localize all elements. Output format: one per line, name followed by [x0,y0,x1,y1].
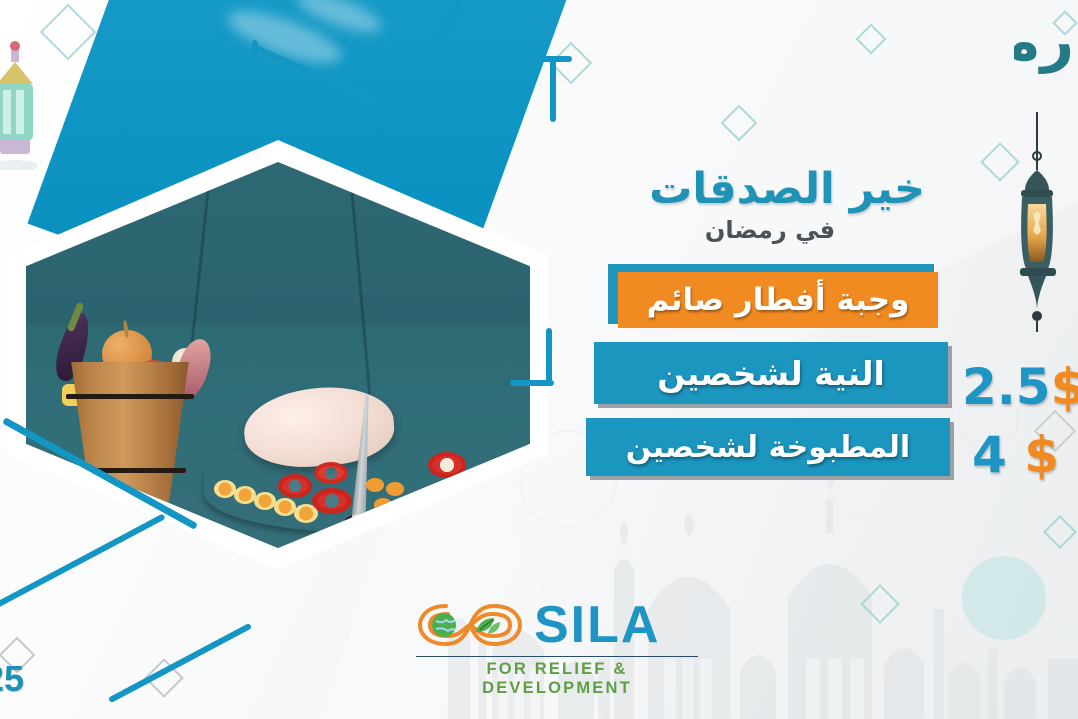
orange-banner-label: وجبة أفطار صائم [647,282,910,318]
price-option-1: 2.5$ [962,358,1078,416]
price-option-2: 4 $ [972,426,1059,484]
infinity-globe-leaf-mark-icon [416,598,524,652]
accent-line [546,328,552,386]
pepper-ring [314,462,348,484]
pepper-ring [312,488,352,514]
blue-banner-1-label: النية لشخصين [657,354,885,393]
year-badge: 25 [0,658,24,700]
bucket-hoop [66,394,194,399]
price-2-currency: $ [1024,426,1059,484]
carrot-slice [254,492,276,510]
blue-banner-2: المطبوخة لشخصين [586,418,950,476]
carrot-slice [386,482,404,496]
accent-line [550,56,556,122]
page-subtitle: في رمضان [615,216,925,244]
arabic-calligraphy: رمضان [1014,14,1074,122]
logo-wordmark: SILA [534,598,660,652]
carrot-slice [274,498,296,516]
decor-circle [962,556,1046,640]
orange-banner: وجبة أفطار صائم [618,272,938,328]
blue-banner-1: النية لشخصين [594,342,948,404]
ramadan-charity-poster: رمضان خير الصدقات في رمضان [0,0,1078,719]
ramadan-lantern-icon [0,40,38,170]
price-1-amount: 2.5 [962,358,1051,416]
pepper-ring [278,474,312,498]
price-1-currency: $ [1051,358,1078,416]
blue-banner-2-label: المطبوخة لشخصين [626,430,910,465]
logo-tagline: FOR RELIEF & DEVELOPMENT [416,656,698,698]
carrot-slice [366,478,384,492]
page-title: خير الصدقات [615,168,925,211]
ramadan-lantern-icon [1008,112,1066,332]
carrot-slice [214,480,236,498]
accent-line [510,380,554,386]
sila-logo: SILA FOR RELIEF & DEVELOPMENT [416,596,706,680]
carrot-slice [234,486,256,504]
accent-line [524,56,572,62]
price-2-amount: 4 [972,426,1007,484]
